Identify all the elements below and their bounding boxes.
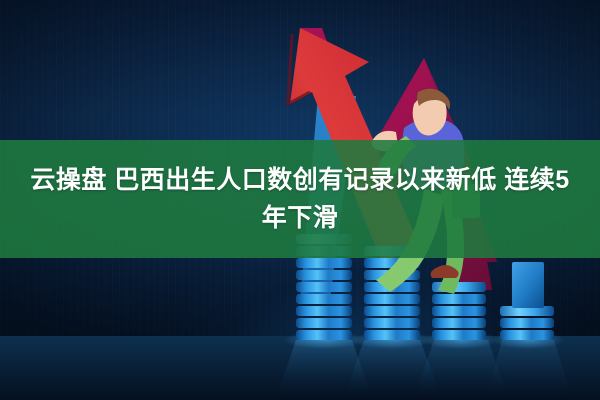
coin-stack-4 xyxy=(500,306,554,340)
coin-stack-3 xyxy=(432,282,486,340)
headline-line-1: 云操盘 巴西出生人口数创有记录以来新低 连续5 xyxy=(30,161,569,199)
image-canvas: 云操盘 巴西出生人口数创有记录以来新低 连续5 年下滑 xyxy=(0,0,600,400)
blue-card xyxy=(512,262,544,308)
headline-line-2: 年下滑 xyxy=(262,199,339,237)
headline-text: 云操盘 巴西出生人口数创有记录以来新低 连续5 年下滑 xyxy=(0,140,600,258)
